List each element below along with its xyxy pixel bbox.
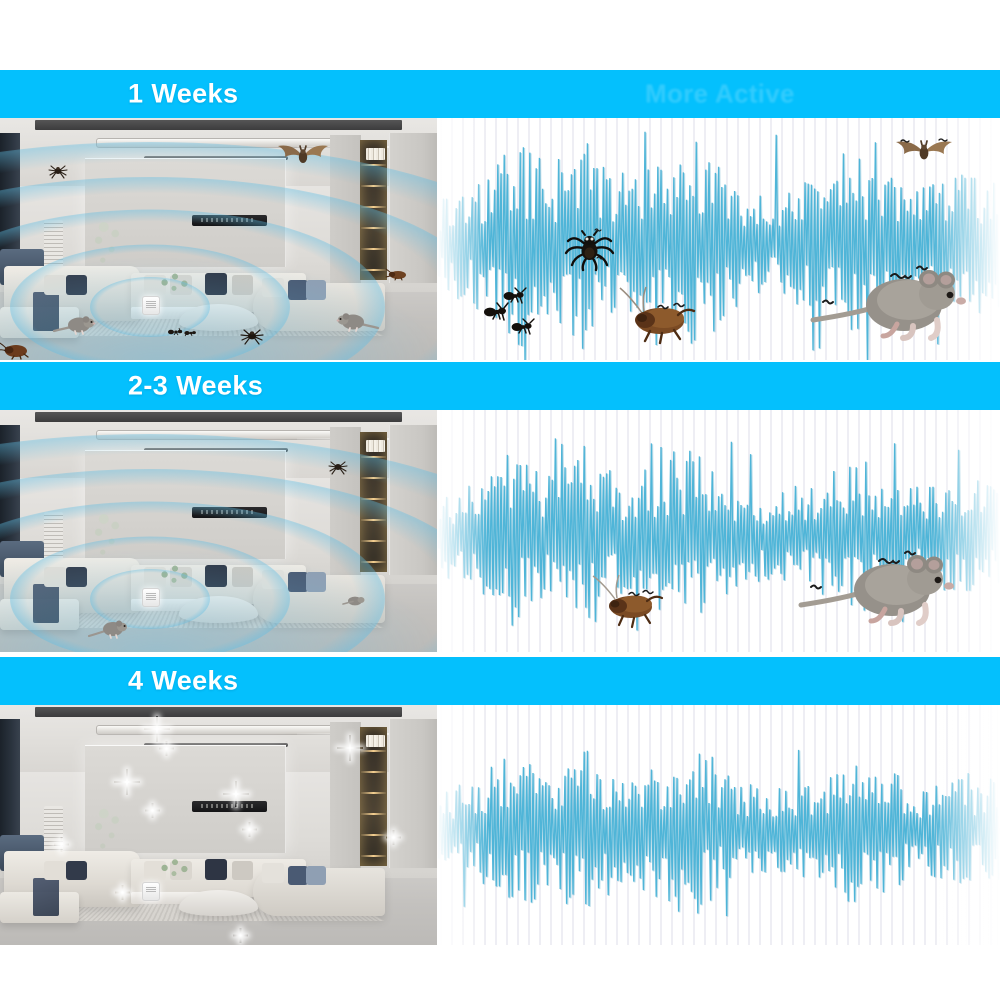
ceiling-recess (35, 707, 402, 717)
radiator (44, 512, 64, 565)
cushion (262, 570, 284, 589)
room-photo-1 (0, 118, 437, 360)
spider-icon (48, 162, 68, 180)
cushion (262, 278, 284, 297)
throw-blanket (33, 584, 59, 623)
cushion (44, 861, 66, 880)
ant-icon (166, 324, 196, 338)
stage-4-weeks: 4 Weeks (0, 657, 1000, 945)
cockroach-icon (385, 268, 411, 280)
media-console (192, 507, 266, 518)
cockroach-icon (589, 575, 665, 629)
throw-blanket (33, 878, 59, 916)
stage-banner-3: 4 Weeks (0, 657, 1000, 705)
stage-content-3 (0, 705, 1000, 945)
cushion (44, 567, 66, 586)
ultrasonic-repeller-device (142, 882, 160, 901)
stage-banner-2: 2-3 Weeks (0, 362, 1000, 410)
wall-panel-middle (330, 427, 361, 577)
wall-panel-right (389, 133, 437, 283)
cushion (66, 567, 88, 586)
ceiling-recess (35, 412, 402, 422)
cockroach-icon (612, 287, 698, 345)
bookshelf (360, 432, 387, 572)
waveform-edge-fade (437, 705, 1000, 945)
pest-repeller-timeline-infographic: More Active 1 Weeks (0, 0, 1000, 1000)
cushion (66, 861, 88, 880)
mouse-icon (797, 543, 957, 629)
round-ottoman-table (179, 596, 258, 623)
bat-icon (275, 142, 331, 170)
banner-label-3: 4 Weeks (128, 666, 238, 697)
table-plant (149, 553, 201, 592)
mouse-icon (87, 616, 129, 640)
books (366, 440, 384, 452)
stage-banner-1: More Active 1 Weeks (0, 70, 1000, 118)
media-console (192, 215, 266, 226)
mouse-icon (809, 258, 969, 344)
cushion (306, 572, 326, 591)
cushion (306, 280, 326, 299)
cushion (205, 273, 227, 295)
banner-label-1: 1 Weeks (128, 79, 238, 110)
cockroach-icon (0, 341, 36, 359)
wall-panel-middle (330, 135, 361, 285)
stage-content-2 (0, 410, 1000, 652)
banner-ghost-label-1: More Active (645, 79, 795, 110)
bookshelf (360, 140, 387, 280)
books (366, 148, 384, 160)
cushion (205, 859, 227, 881)
bookshelf (360, 727, 387, 866)
bat-icon (893, 137, 955, 167)
radiator (44, 220, 64, 273)
media-console (192, 801, 266, 812)
waveform-panel-3 (437, 705, 1000, 945)
cushion (306, 866, 326, 885)
books (366, 735, 384, 747)
window-curtain (0, 425, 20, 546)
table-plant (149, 261, 201, 300)
ant-icon (502, 285, 540, 305)
window-curtain (0, 133, 20, 254)
stage-1-weeks: More Active 1 Weeks (0, 70, 1000, 360)
waveform-panel-2 (437, 410, 1000, 652)
ultrasonic-repeller-device (142, 296, 160, 315)
room-photo-2 (0, 410, 437, 652)
wall-panel-middle (330, 722, 361, 871)
mouse-icon (341, 594, 367, 607)
stage-content-1 (0, 118, 1000, 360)
cushion (232, 861, 254, 880)
table-plant (149, 847, 201, 885)
stage-2-3-weeks: 2-3 Weeks (0, 362, 1000, 652)
waveform-panel-1 (437, 118, 1000, 360)
ultrasonic-repeller-device (142, 588, 160, 607)
wall-panel-right (389, 425, 437, 575)
ant-icon (510, 316, 548, 336)
spider-icon (328, 458, 348, 476)
cushion (205, 565, 227, 587)
ceiling-recess (35, 120, 402, 130)
banner-label-2: 2-3 Weeks (128, 371, 263, 402)
mouse-icon (336, 309, 380, 333)
cushion (262, 863, 284, 882)
wall-panel-right (389, 719, 437, 868)
cushion (232, 567, 254, 586)
cushion (66, 275, 88, 294)
window-curtain (0, 719, 20, 839)
spider-icon (561, 224, 617, 272)
mouse-icon (52, 312, 96, 336)
spider-icon (240, 326, 264, 346)
room-photo-3 (0, 705, 437, 945)
cushion (44, 275, 66, 294)
cushion (232, 275, 254, 294)
